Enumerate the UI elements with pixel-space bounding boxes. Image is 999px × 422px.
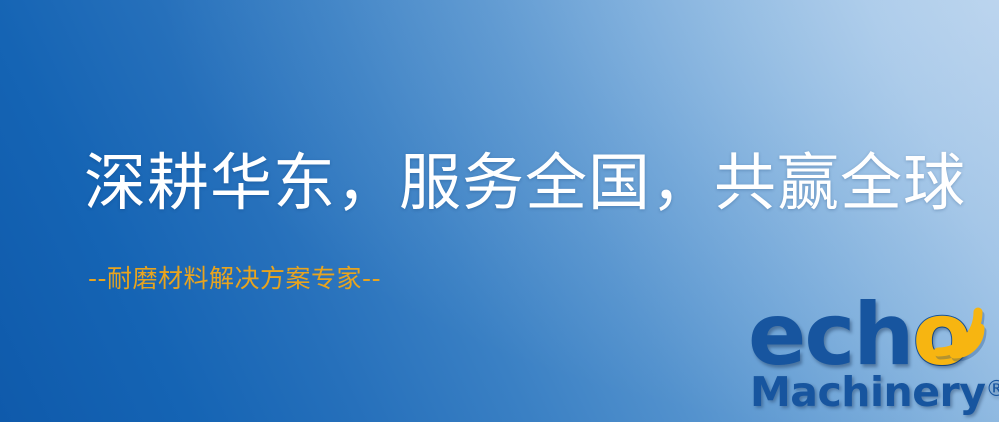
banner-headline: 深耕华东，服务全国，共赢全球: [84, 152, 966, 214]
banner-subtitle: --耐磨材料解决方案专家--: [88, 266, 381, 291]
registered-trademark-icon: ®: [985, 377, 999, 402]
logo-subtext-label: Machinery: [750, 368, 985, 416]
logo-subtext: Machinery®: [750, 372, 999, 413]
hero-banner: 深耕华东，服务全国，共赢全球 --耐磨材料解决方案专家-- echo Machi…: [0, 0, 999, 422]
company-logo[interactable]: echo Machinery®: [748, 296, 996, 420]
echo-waves-icon: [924, 294, 996, 366]
